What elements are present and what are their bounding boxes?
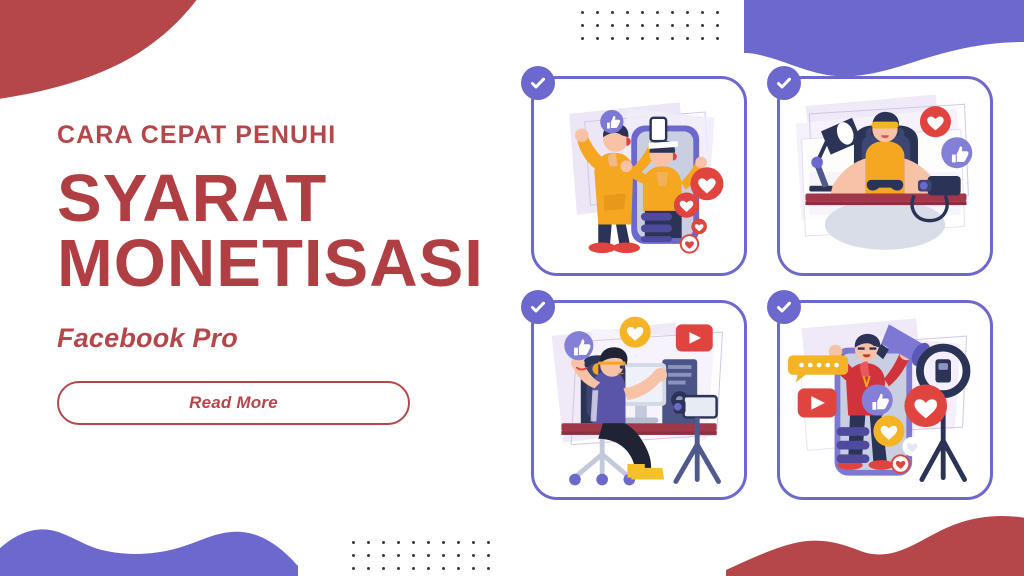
check-icon	[767, 290, 801, 324]
check-icon	[767, 66, 801, 100]
illustration-card-grid	[531, 76, 993, 500]
text-column: CARA CEPAT PENUHI SYARAT MONETISASI Face…	[57, 122, 527, 425]
card-video-creator[interactable]	[531, 300, 747, 500]
subtitle-text: Facebook Pro	[57, 323, 527, 354]
check-icon	[521, 290, 555, 324]
purple-wave-bottom-left	[0, 500, 298, 576]
card-desk-gamer[interactable]	[777, 76, 993, 276]
dot-grid-bottom	[352, 541, 502, 576]
read-more-button[interactable]: Read More	[57, 381, 410, 425]
red-blob-top-left	[0, 0, 198, 100]
red-wave-bottom-right	[726, 498, 1024, 576]
eyebrow-text: CARA CEPAT PENUHI	[57, 122, 527, 150]
illustration-desk-gamer	[780, 79, 990, 273]
page-title: SYARAT MONETISASI	[57, 166, 527, 297]
dot-grid-top	[581, 11, 731, 50]
check-icon	[521, 66, 555, 100]
illustration-promoter	[780, 303, 990, 497]
illustration-video-creator	[534, 303, 744, 497]
illustration-selfie-streamer	[534, 79, 744, 273]
promo-banner: CARA CEPAT PENUHI SYARAT MONETISASI Face…	[0, 0, 1024, 576]
card-selfie-streamer[interactable]	[531, 76, 747, 276]
card-promoter[interactable]	[777, 300, 993, 500]
